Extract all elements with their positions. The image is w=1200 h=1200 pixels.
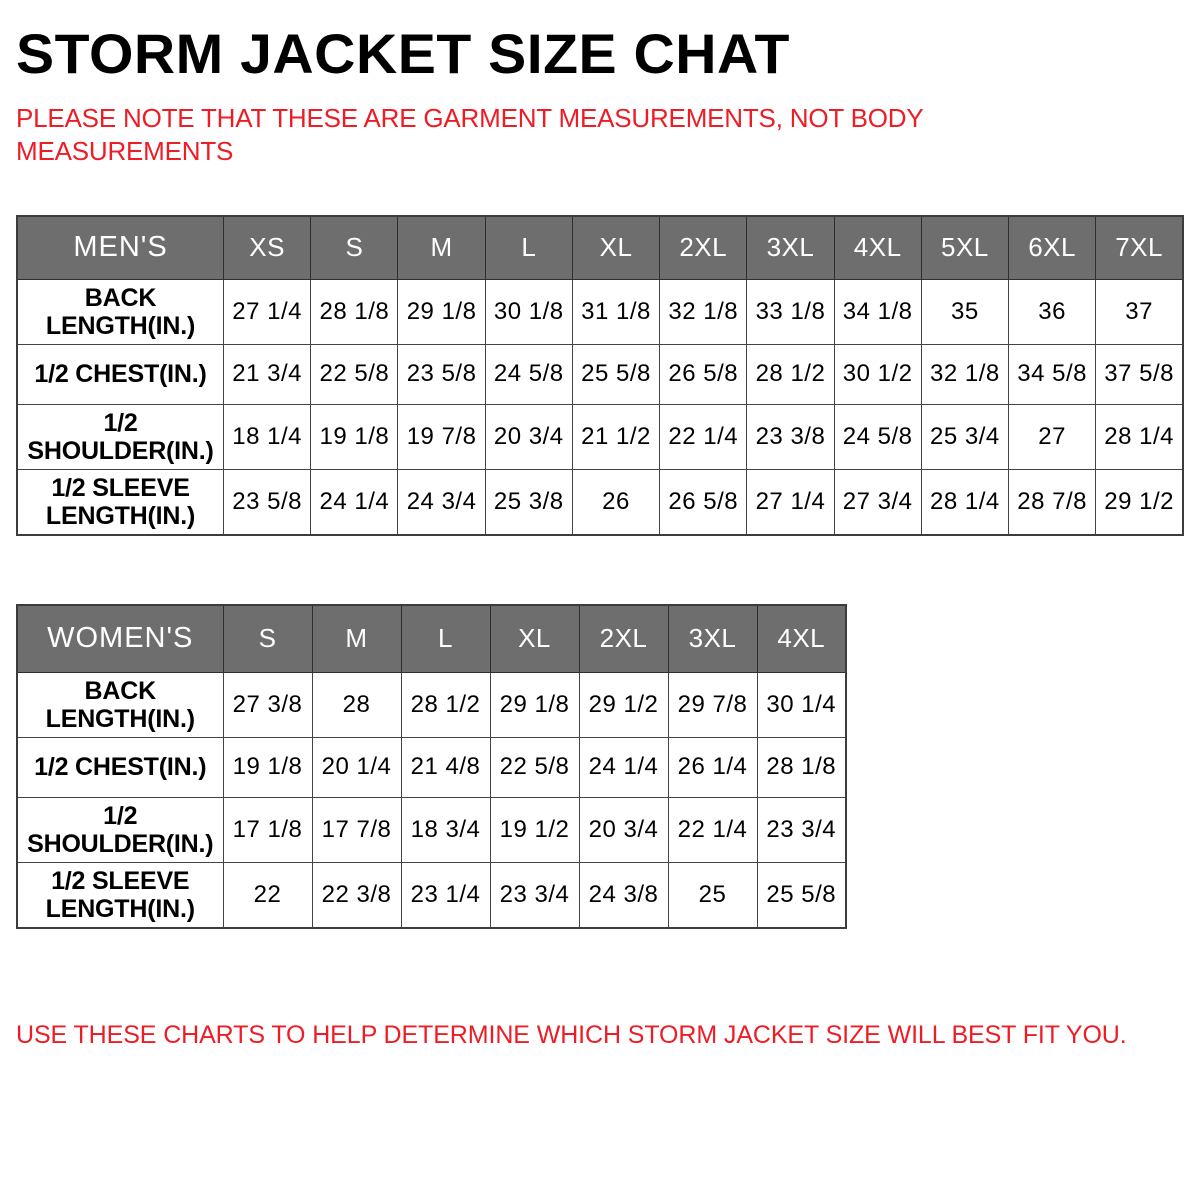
- womens-size-header-l: L: [401, 605, 490, 673]
- measurement-cell: 23 5/8: [398, 344, 485, 404]
- mens-size-header-xs: XS: [224, 216, 311, 280]
- womens-table-body: BACKLENGTH(IN.)27 3/82828 1/229 1/829 1/…: [17, 672, 846, 928]
- table-row: 1/2 SLEEVELENGTH(IN.)2222 3/823 1/423 3/…: [17, 862, 846, 928]
- womens-header-row: WOMEN'SSMLXL2XL3XL4XL: [17, 605, 846, 673]
- mens-size-header-4xl: 4XL: [834, 216, 921, 280]
- mens-size-header-2xl: 2XL: [660, 216, 747, 280]
- table-row: 1/2 SLEEVELENGTH(IN.)23 5/824 1/424 3/42…: [17, 469, 1183, 535]
- measurement-cell: 30 1/4: [757, 672, 846, 737]
- measurement-cell: 25 3/4: [921, 404, 1008, 469]
- womens-table-head: WOMEN'SSMLXL2XL3XL4XL: [17, 605, 846, 673]
- measurement-cell: 26 1/4: [668, 737, 757, 797]
- measurement-cell: 22 1/4: [668, 797, 757, 862]
- measurement-cell: 17 7/8: [312, 797, 401, 862]
- womens-table-corner-header: WOMEN'S: [17, 605, 223, 673]
- measurement-cell: 21 3/4: [224, 344, 311, 404]
- measurement-cell: 28 1/8: [757, 737, 846, 797]
- measurement-cell: 32 1/8: [660, 279, 747, 344]
- measurement-cell: 37: [1096, 279, 1183, 344]
- measurement-cell: 33 1/8: [747, 279, 834, 344]
- measurement-cell: 21 4/8: [401, 737, 490, 797]
- measurement-cell: 18 1/4: [224, 404, 311, 469]
- measurement-cell: 29 7/8: [668, 672, 757, 737]
- table-row: 1/2 SHOULDER(IN.)17 1/817 7/818 3/419 1/…: [17, 797, 846, 862]
- measurement-cell: 32 1/8: [921, 344, 1008, 404]
- measurement-cell: 22 5/8: [311, 344, 398, 404]
- mens-size-header-xl: XL: [572, 216, 659, 280]
- measurement-cell: 25: [668, 862, 757, 928]
- womens-size-header-s: S: [223, 605, 312, 673]
- mens-measure-label-4: 1/2 SLEEVELENGTH(IN.): [17, 469, 224, 535]
- mens-size-header-3xl: 3XL: [747, 216, 834, 280]
- mens-table-head: MEN'SXSSMLXL2XL3XL4XL5XL6XL7XL: [17, 216, 1183, 280]
- measurement-cell: 28: [312, 672, 401, 737]
- measurement-cell: 23 1/4: [401, 862, 490, 928]
- womens-measure-label-3: 1/2 SHOULDER(IN.): [17, 797, 223, 862]
- measurement-cell: 29 1/2: [579, 672, 668, 737]
- measurement-cell: 34 5/8: [1009, 344, 1096, 404]
- womens-measure-label-1: BACKLENGTH(IN.): [17, 672, 223, 737]
- measurement-cell: 26 5/8: [660, 469, 747, 535]
- womens-size-header-xl: XL: [490, 605, 579, 673]
- table-row: 1/2 SHOULDER(IN.)18 1/419 1/819 7/820 3/…: [17, 404, 1183, 469]
- mens-measure-label-1: BACKLENGTH(IN.): [17, 279, 224, 344]
- table-row: 1/2 CHEST(IN.)21 3/422 5/823 5/824 5/825…: [17, 344, 1183, 404]
- measurement-cell: 35: [921, 279, 1008, 344]
- measurement-cell: 17 1/8: [223, 797, 312, 862]
- measurement-cell: 20 3/4: [485, 404, 572, 469]
- measurement-cell: 23 3/4: [490, 862, 579, 928]
- measurement-cell: 26: [572, 469, 659, 535]
- measurement-cell: 19 7/8: [398, 404, 485, 469]
- measurement-cell: 31 1/8: [572, 279, 659, 344]
- womens-size-header-2xl: 2XL: [579, 605, 668, 673]
- measurement-cell: 28 1/4: [921, 469, 1008, 535]
- measurement-cell: 25 5/8: [572, 344, 659, 404]
- mens-size-header-s: S: [311, 216, 398, 280]
- measurement-cell: 23 5/8: [224, 469, 311, 535]
- measurement-cell: 28 7/8: [1009, 469, 1096, 535]
- measurement-cell: 24 3/4: [398, 469, 485, 535]
- measurement-cell: 29 1/8: [398, 279, 485, 344]
- measurement-cell: 19 1/8: [223, 737, 312, 797]
- mens-size-header-l: L: [485, 216, 572, 280]
- mens-size-table: MEN'SXSSMLXL2XL3XL4XL5XL6XL7XL BACKLENGT…: [16, 215, 1184, 536]
- mens-measure-label-2: 1/2 CHEST(IN.): [17, 344, 224, 404]
- womens-size-header-m: M: [312, 605, 401, 673]
- measurement-cell: 20 1/4: [312, 737, 401, 797]
- measurement-cell: 29 1/8: [490, 672, 579, 737]
- measurement-cell: 27 1/4: [747, 469, 834, 535]
- mens-table-corner-header: MEN'S: [17, 216, 224, 280]
- measurement-cell: 21 1/2: [572, 404, 659, 469]
- measurement-cell: 22 3/8: [312, 862, 401, 928]
- measurement-cell: 23 3/4: [757, 797, 846, 862]
- womens-measure-label-4: 1/2 SLEEVELENGTH(IN.): [17, 862, 223, 928]
- measurement-cell: 30 1/2: [834, 344, 921, 404]
- measurement-cell: 20 3/4: [579, 797, 668, 862]
- measurement-cell: 29 1/2: [1096, 469, 1183, 535]
- table-row: BACKLENGTH(IN.)27 3/82828 1/229 1/829 1/…: [17, 672, 846, 737]
- footer-help-note: USE THESE CHARTS TO HELP DETERMINE WHICH…: [16, 929, 1184, 1050]
- table-row: BACKLENGTH(IN.)27 1/428 1/829 1/830 1/83…: [17, 279, 1183, 344]
- measurement-cell: 28 1/2: [401, 672, 490, 737]
- measurement-cell: 25 3/8: [485, 469, 572, 535]
- page-title: STORM JACKET SIZE CHAT: [16, 0, 1200, 82]
- measurement-cell: 24 5/8: [834, 404, 921, 469]
- mens-size-header-5xl: 5XL: [921, 216, 1008, 280]
- size-chart-page: STORM JACKET SIZE CHAT PLEASE NOTE THAT …: [0, 0, 1200, 1200]
- measurement-cell: 36: [1009, 279, 1096, 344]
- measurement-cell: 22 1/4: [660, 404, 747, 469]
- mens-size-header-7xl: 7XL: [1096, 216, 1183, 280]
- womens-measure-label-2: 1/2 CHEST(IN.): [17, 737, 223, 797]
- measurement-cell: 24 3/8: [579, 862, 668, 928]
- measurement-cell: 30 1/8: [485, 279, 572, 344]
- mens-size-header-m: M: [398, 216, 485, 280]
- womens-size-header-3xl: 3XL: [668, 605, 757, 673]
- measurement-cell: 22: [223, 862, 312, 928]
- measurement-cell: 24 1/4: [579, 737, 668, 797]
- measurement-cell: 23 3/8: [747, 404, 834, 469]
- measurement-cell: 26 5/8: [660, 344, 747, 404]
- measurement-cell: 19 1/8: [311, 404, 398, 469]
- mens-measure-label-3: 1/2 SHOULDER(IN.): [17, 404, 224, 469]
- measurement-cell: 27 1/4: [224, 279, 311, 344]
- measurement-cell: 27 3/4: [834, 469, 921, 535]
- womens-size-table: WOMEN'SSMLXL2XL3XL4XL BACKLENGTH(IN.)27 …: [16, 604, 847, 929]
- measurement-cell: 24 1/4: [311, 469, 398, 535]
- mens-header-row: MEN'SXSSMLXL2XL3XL4XL5XL6XL7XL: [17, 216, 1183, 280]
- mens-table-body: BACKLENGTH(IN.)27 1/428 1/829 1/830 1/83…: [17, 279, 1183, 535]
- table-row: 1/2 CHEST(IN.)19 1/820 1/421 4/822 5/824…: [17, 737, 846, 797]
- measurement-cell: 18 3/4: [401, 797, 490, 862]
- measurement-cell: 37 5/8: [1096, 344, 1183, 404]
- measurement-cell: 22 5/8: [490, 737, 579, 797]
- mens-size-table-wrapper: MEN'SXSSMLXL2XL3XL4XL5XL6XL7XL BACKLENGT…: [16, 169, 1184, 536]
- measurement-cell: 34 1/8: [834, 279, 921, 344]
- measurement-cell: 28 1/8: [311, 279, 398, 344]
- measurement-cell: 28 1/2: [747, 344, 834, 404]
- measurement-cell: 25 5/8: [757, 862, 846, 928]
- womens-size-header-4xl: 4XL: [757, 605, 846, 673]
- garment-measurement-note: PLEASE NOTE THAT THESE ARE GARMENT MEASU…: [16, 82, 1016, 169]
- measurement-cell: 27 3/8: [223, 672, 312, 737]
- womens-size-table-wrapper: WOMEN'SSMLXL2XL3XL4XL BACKLENGTH(IN.)27 …: [16, 536, 1184, 929]
- mens-size-header-6xl: 6XL: [1009, 216, 1096, 280]
- measurement-cell: 27: [1009, 404, 1096, 469]
- measurement-cell: 19 1/2: [490, 797, 579, 862]
- measurement-cell: 24 5/8: [485, 344, 572, 404]
- measurement-cell: 28 1/4: [1096, 404, 1183, 469]
